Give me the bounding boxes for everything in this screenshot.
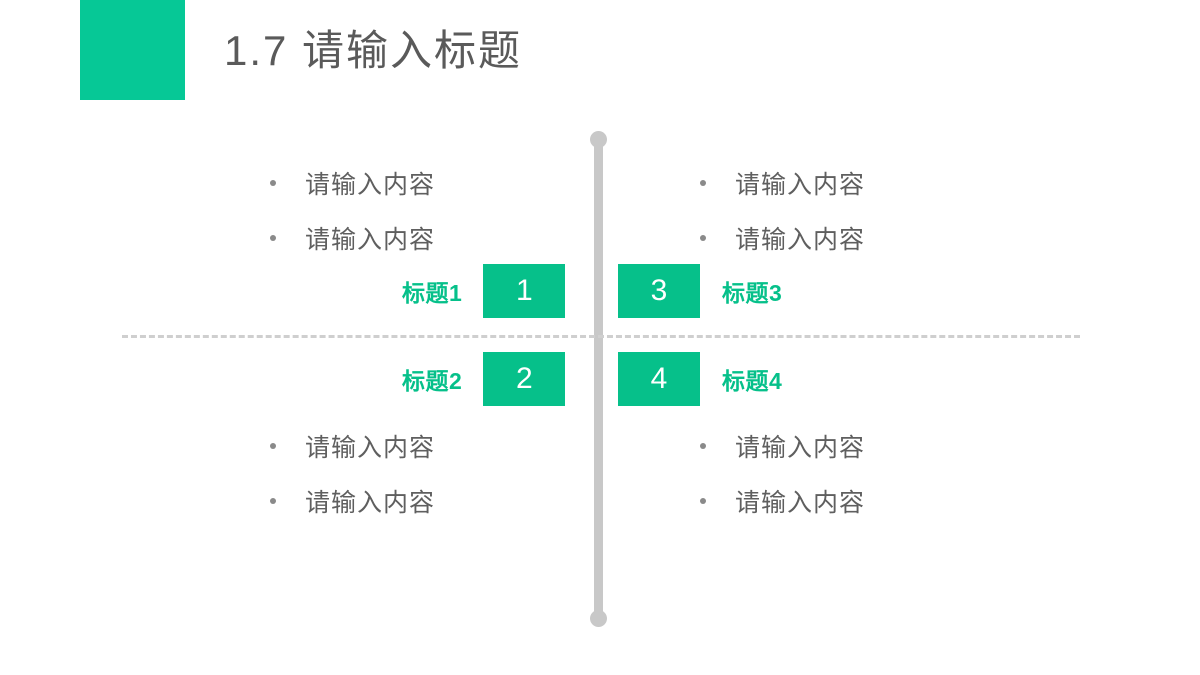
item-3-number-box: 3	[618, 264, 700, 318]
quadrant-top-left-bullets: 请输入内容 请输入内容	[270, 155, 580, 265]
item-3-label: 标题3	[722, 274, 782, 308]
center-dot-top-icon	[590, 131, 607, 148]
list-item: 请输入内容	[270, 155, 580, 210]
item-1-label: 标题1	[402, 274, 462, 308]
list-item: 请输入内容	[700, 418, 1030, 473]
list-item-label: 请输入内容	[305, 165, 435, 201]
quadrant-bottom-right-bullets: 请输入内容 请输入内容	[700, 418, 1030, 528]
slide-canvas: 1.7 请输入标题 请输入内容 请输入内容 请输入内容 请输入	[0, 0, 1200, 675]
bullet-dot-icon	[700, 443, 706, 449]
item-1-number-box: 1	[483, 264, 565, 318]
list-item: 请输入内容	[700, 210, 1030, 265]
list-item-label: 请输入内容	[735, 483, 865, 519]
bullet-dot-icon	[700, 180, 706, 186]
list-item-label: 请输入内容	[735, 220, 865, 256]
list-item-label: 请输入内容	[735, 428, 865, 464]
bullet-list: 请输入内容 请输入内容	[700, 418, 1030, 528]
list-item: 请输入内容	[270, 418, 580, 473]
list-item: 请输入内容	[270, 473, 580, 528]
bullet-dot-icon	[270, 443, 276, 449]
item-2-header[interactable]: 标题2 2	[402, 352, 565, 406]
bullet-dot-icon	[700, 235, 706, 241]
header-accent-square	[80, 0, 185, 100]
bullet-dot-icon	[270, 498, 276, 504]
quadrant-top-right-bullets: 请输入内容 请输入内容	[700, 155, 1030, 265]
list-item: 请输入内容	[270, 210, 580, 265]
list-item-label: 请输入内容	[305, 483, 435, 519]
item-2-label: 标题2	[402, 362, 462, 396]
bullet-list: 请输入内容 请输入内容	[700, 155, 1030, 265]
item-2-number-box: 2	[483, 352, 565, 406]
horizontal-dashed-divider	[122, 335, 1080, 338]
item-1-header[interactable]: 标题1 1	[402, 264, 565, 318]
bullet-dot-icon	[270, 180, 276, 186]
center-vertical-line	[594, 138, 603, 620]
item-3-header[interactable]: 3 标题3	[618, 264, 782, 318]
item-4-number-box: 4	[618, 352, 700, 406]
bullet-dot-icon	[700, 498, 706, 504]
list-item: 请输入内容	[700, 473, 1030, 528]
list-item-label: 请输入内容	[735, 165, 865, 201]
list-item-label: 请输入内容	[305, 428, 435, 464]
page-title: 1.7 请输入标题	[224, 20, 522, 82]
item-4-label: 标题4	[722, 362, 782, 396]
center-dot-bottom-icon	[590, 610, 607, 627]
list-item: 请输入内容	[700, 155, 1030, 210]
bullet-list: 请输入内容 请输入内容	[270, 418, 580, 528]
bullet-list: 请输入内容 请输入内容	[270, 155, 580, 265]
list-item-label: 请输入内容	[305, 220, 435, 256]
item-4-header[interactable]: 4 标题4	[618, 352, 782, 406]
quadrant-bottom-left-bullets: 请输入内容 请输入内容	[270, 418, 580, 528]
bullet-dot-icon	[270, 235, 276, 241]
